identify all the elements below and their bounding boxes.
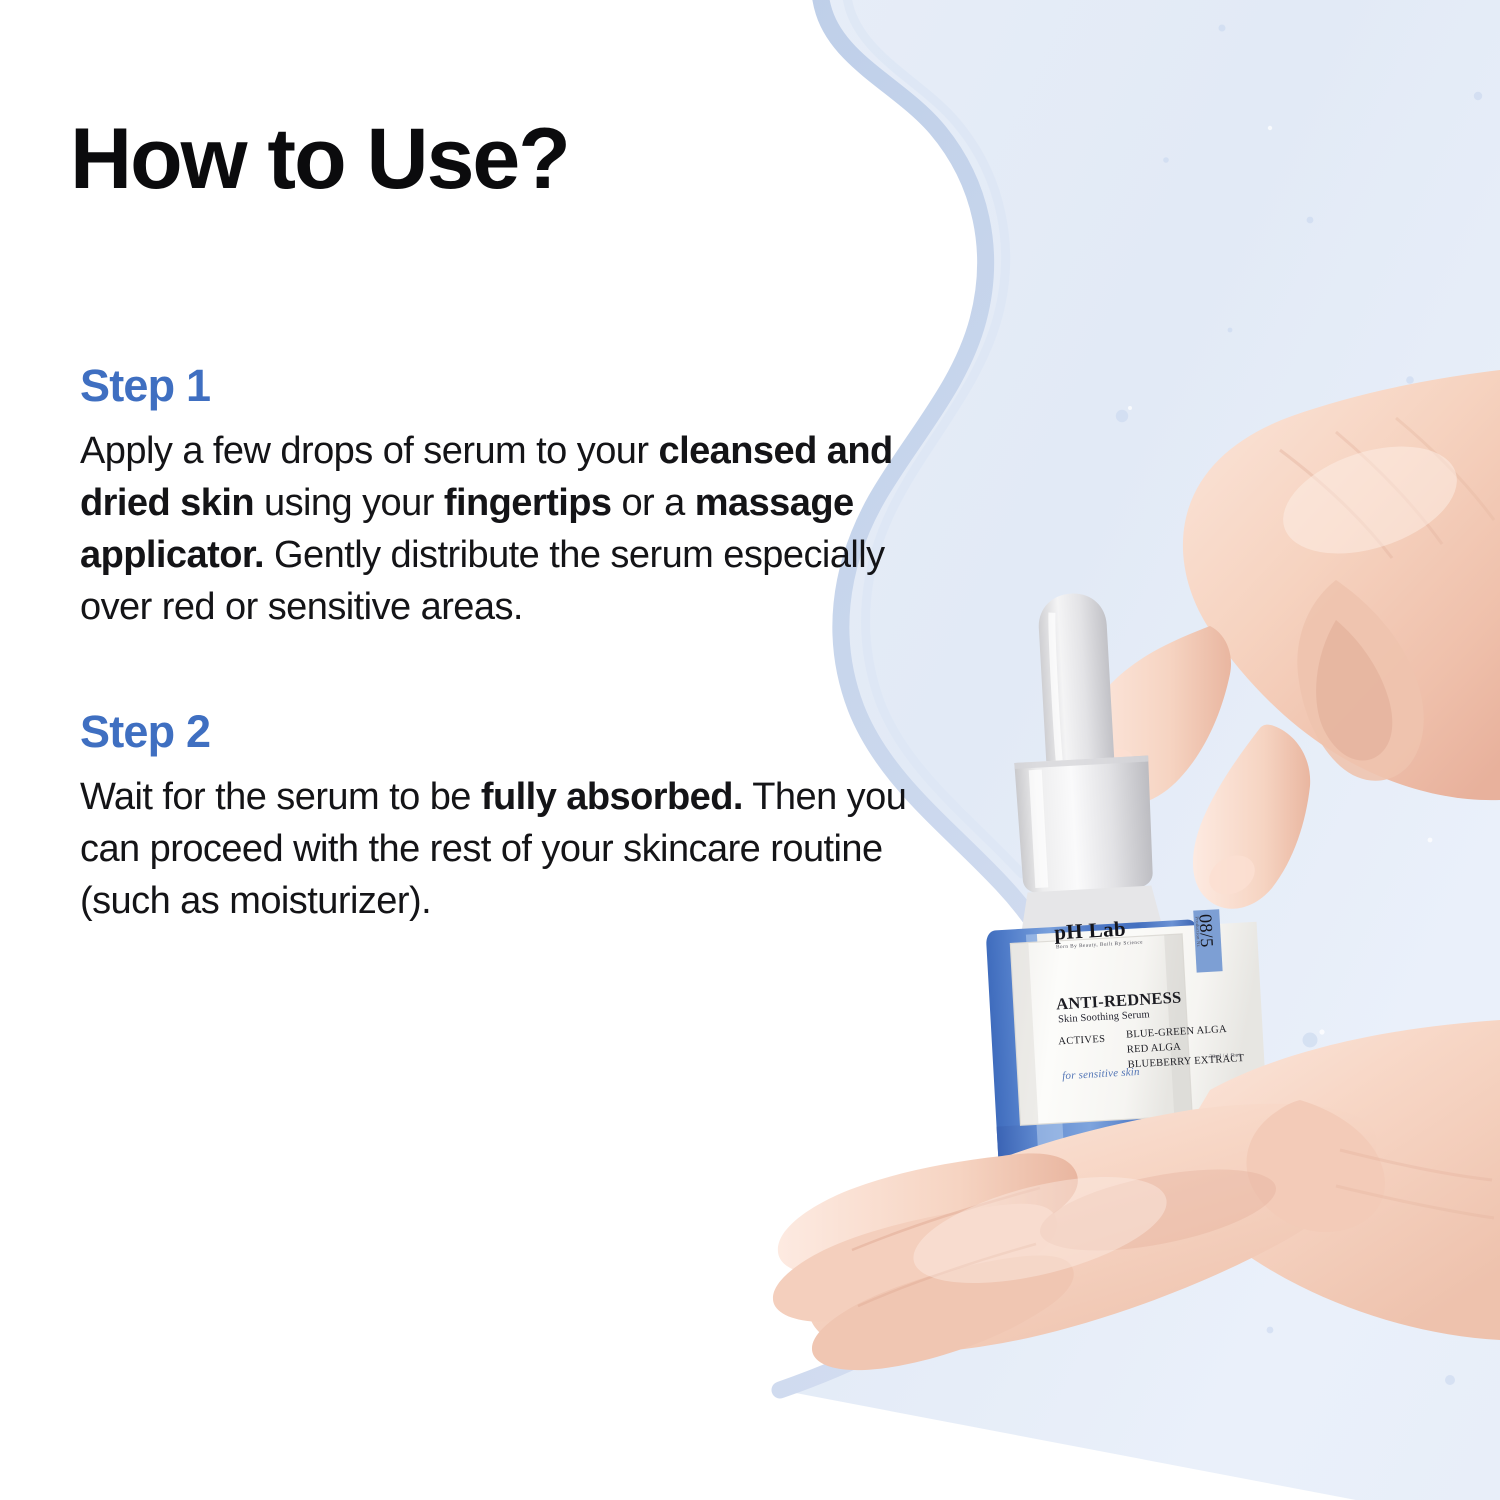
how-to-use-infographic: How to Use? Step 1 Apply a few drops of … [0,0,1500,1500]
bottle-label-surface [1010,934,1192,1125]
product-scene [740,330,1500,1390]
page-title: How to Use? [70,116,569,202]
